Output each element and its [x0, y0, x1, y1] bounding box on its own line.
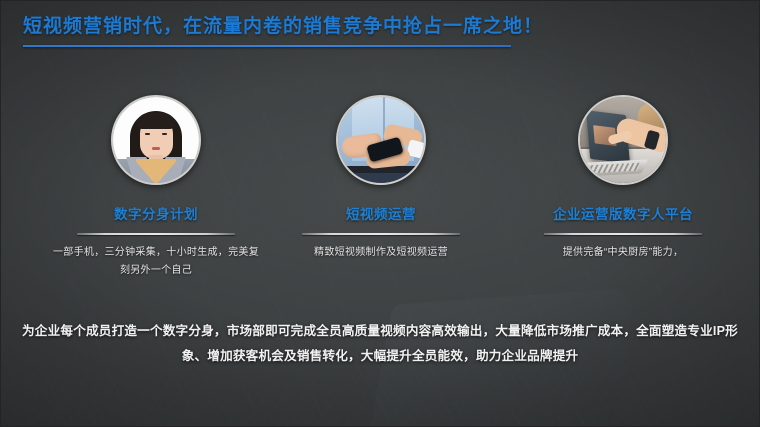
trousers-shape: [338, 173, 424, 183]
feature-divider-1: [77, 233, 235, 235]
slide-title: 短视频营销时代，在流量内卷的销售竞争中抢占一席之地！: [23, 16, 723, 39]
feature-columns: 数字分身计划 一部手机，三分钟采集，十小时生成，完美复刻另外一个自己: [1, 89, 760, 289]
fringe-shape: [137, 113, 175, 129]
hands-holding-phone-photo: [336, 95, 426, 185]
laptop-illustration: [580, 97, 666, 183]
phone-illustration: [338, 97, 424, 183]
feature-description-1: 一部手机，三分钟采集，十小时生成，完美复刻另外一个自己: [50, 244, 262, 279]
hand-pointing-laptop-photo: [578, 95, 668, 185]
right-eye-shape: [162, 133, 167, 135]
title-underline: [23, 45, 511, 47]
woman-portrait-photo: [111, 95, 201, 185]
left-eye-shape: [145, 133, 150, 135]
title-block: 短视频营销时代，在流量内卷的销售竞争中抢占一席之地！: [23, 16, 723, 47]
feature-column-3: 企业运营版数字人平台 提供完备“中央厨房”能力，: [503, 89, 743, 262]
feature-heading-1: 数字分身计划: [36, 203, 276, 223]
lips-shape: [152, 147, 160, 150]
feature-divider-3: [544, 233, 702, 235]
portrait-illustration: [113, 97, 199, 183]
feature-column-1: 数字分身计划 一部手机，三分钟采集，十小时生成，完美复刻另外一个自己: [36, 89, 276, 279]
feature-heading-3: 企业运营版数字人平台: [503, 203, 743, 223]
footer-paragraph: 为企业每个成员打造一个数字分身，市场部即可完成全员高质量视频内容高效输出，大量降…: [17, 319, 743, 369]
slide-canvas: 短视频营销时代，在流量内卷的销售竞争中抢占一席之地！: [0, 0, 760, 427]
feature-description-3: 提供完备“中央厨房”能力，: [517, 244, 729, 262]
feature-divider-2: [302, 233, 460, 235]
feature-heading-2: 短视频运营: [261, 203, 501, 223]
feature-description-2: 精致短视频制作及短视频运营: [275, 244, 487, 262]
feature-column-2: 短视频运营 精致短视频制作及短视频运营: [261, 89, 501, 262]
